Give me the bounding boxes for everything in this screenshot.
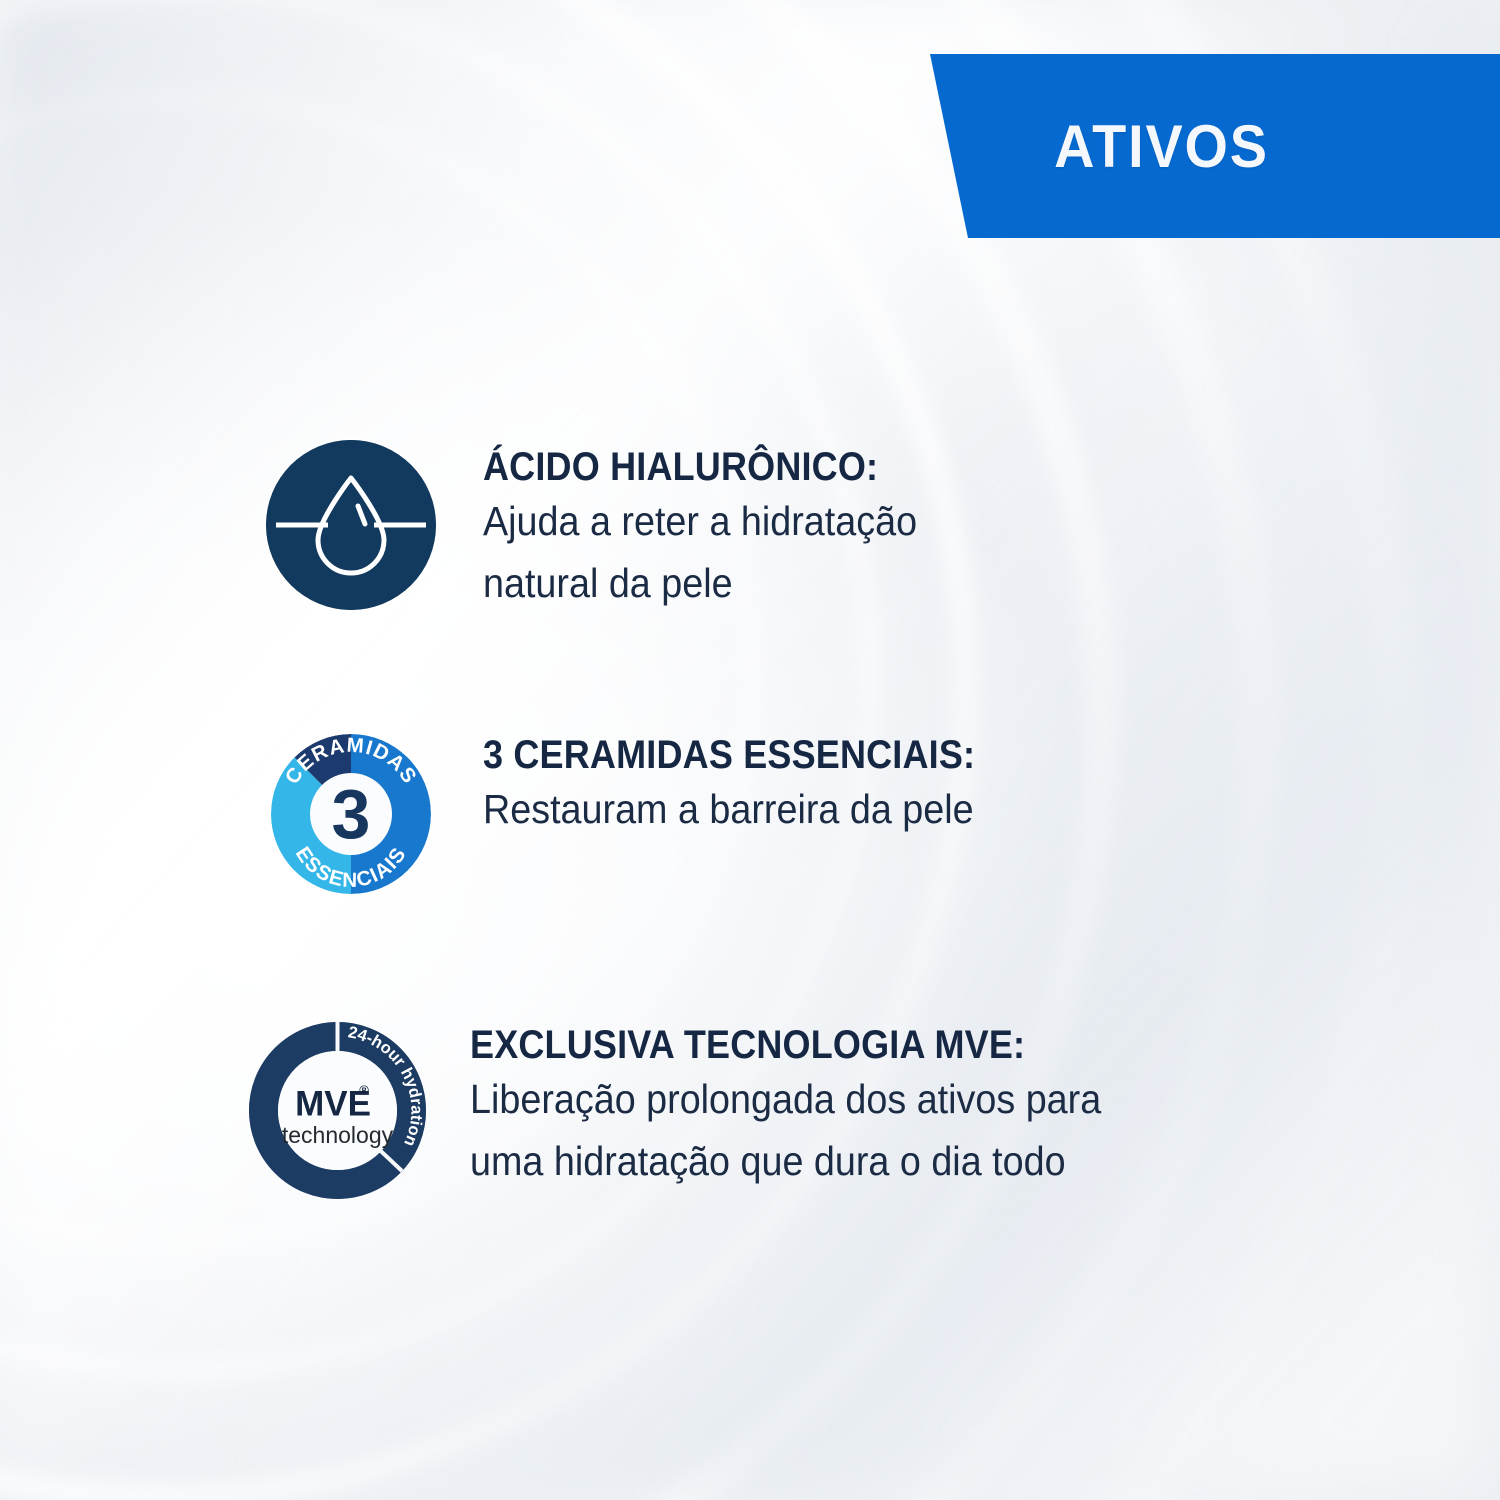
feature-heading: EXCLUSIVA TECNOLOGIA MVE: bbox=[470, 1020, 1087, 1070]
ceramides-count: 3 bbox=[331, 775, 370, 853]
feature-body-line-2: natural da pele bbox=[483, 554, 917, 612]
feature-row-ceramides: CERAMIDAS ESSENCIAIS 3 3 CERAMIDAS ESSEN… bbox=[218, 728, 1030, 900]
mve-registered-mark: ® bbox=[359, 1083, 369, 1098]
water-droplet-icon bbox=[266, 440, 436, 610]
feature-body-line-1: Ajuda a reter a hidratação bbox=[483, 492, 917, 550]
feature-list: ÁCIDO HIALURÔNICO: Ajuda a reter a hidra… bbox=[0, 0, 1500, 1500]
feature-row-hyaluronic-acid: ÁCIDO HIALURÔNICO: Ajuda a reter a hidra… bbox=[218, 440, 955, 612]
feature-heading: ÁCIDO HIALURÔNICO: bbox=[483, 442, 908, 492]
feature-row-mve-technology: 24-hour hydration MVE ® technology EXCLU… bbox=[205, 1018, 1156, 1203]
feature-body-line-1: Restauram a barreira da pele bbox=[483, 780, 986, 838]
feature-body-line-1: Liberação prolongada dos ativos para bbox=[470, 1070, 1101, 1128]
feature-heading: 3 CERAMIDAS ESSENCIAIS: bbox=[483, 730, 975, 780]
feature-text-cell: 3 CERAMIDAS ESSENCIAIS: Restauram a barr… bbox=[483, 728, 1030, 838]
feature-body-line-2: uma hidratação que dura o dia todo bbox=[470, 1132, 1101, 1190]
feature-icon-cell bbox=[218, 440, 483, 610]
mve-center-subtitle: technology bbox=[282, 1122, 394, 1148]
promo-page: ATIVOS ÁCIDO HIALURÔNICO: Ajuda a reter … bbox=[0, 0, 1500, 1500]
mve-technology-badge-icon: 24-hour hydration MVE ® technology bbox=[245, 1018, 430, 1203]
feature-icon-cell: 24-hour hydration MVE ® technology bbox=[205, 1018, 470, 1203]
feature-icon-cell: CERAMIDAS ESSENCIAIS 3 bbox=[218, 728, 483, 900]
feature-text-cell: ÁCIDO HIALURÔNICO: Ajuda a reter a hidra… bbox=[483, 440, 955, 612]
three-ceramides-badge-icon: CERAMIDAS ESSENCIAIS 3 bbox=[265, 728, 437, 900]
feature-text-cell: EXCLUSIVA TECNOLOGIA MVE: Liberação prol… bbox=[470, 1018, 1156, 1190]
